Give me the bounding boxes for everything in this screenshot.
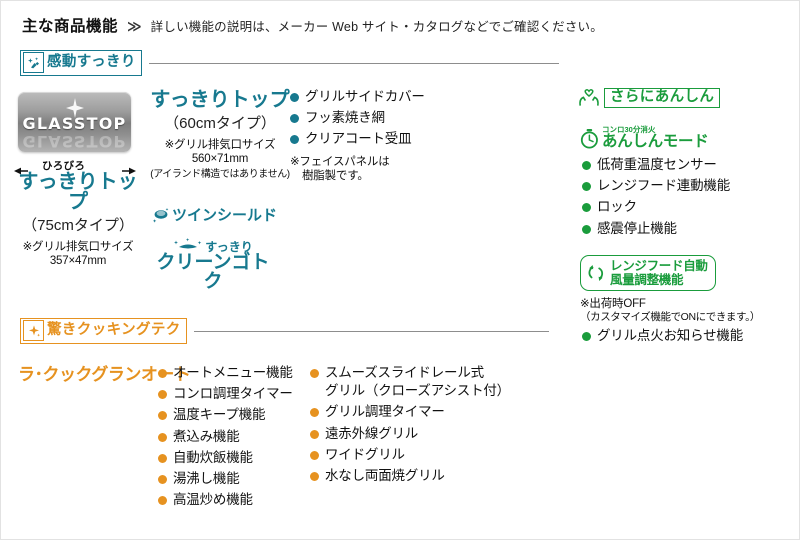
list-item-label: グリルサイドカバー <box>305 88 425 106</box>
bullet-dot-icon <box>582 225 591 234</box>
list-item-label: スムーズスライドレール式 <box>325 365 484 380</box>
bullet-dot-icon <box>158 433 167 442</box>
clean-bullet-note-1: ※フェイスパネルは <box>290 155 480 169</box>
title-arrow-icon: ≫ <box>127 18 142 35</box>
logo-clean-gotoku: すっきり クリーンゴトク <box>148 238 278 291</box>
list-item-label: オートメニュー機能 <box>173 364 293 382</box>
bullet-list-cooking-col1: オートメニュー機能 コンロ調理タイマー 温度キープ機能 煮込み機能 自動炊飯機能… <box>158 364 308 513</box>
section-rule-clean <box>149 63 559 64</box>
list-item: スムーズスライドレール式 グリル（クローズアシスト付） <box>310 364 520 400</box>
surprise-icon <box>23 320 44 341</box>
list-item-label: ワイドグリル <box>325 446 405 464</box>
list-item-label: 遠赤外線グリル <box>325 425 418 443</box>
list-item-label: フッ素焼き網 <box>305 109 385 127</box>
sparkle-hand-icon <box>23 52 44 73</box>
range-hood-feature-box: レンジフード自動 風量調整機能 <box>580 255 716 291</box>
page-subtitle: 詳しい機能の説明は、メーカー Web サイト・カタログなどでご確認ください。 <box>151 16 603 35</box>
section-header-clean: 感動すっきり <box>20 50 559 76</box>
list-item-label: 煮込み機能 <box>173 428 240 446</box>
section-badge-safety: さらにあんしん <box>578 88 720 108</box>
list-item: フッ素焼き網 <box>290 109 480 127</box>
clean-bullet-note-2: 樹脂製です。 <box>290 169 480 183</box>
list-item: 自動炊飯機能 <box>158 449 308 467</box>
product-60-note-2: 560×71mm <box>145 152 295 166</box>
list-item-label: 水なし両面焼グリル <box>325 467 445 485</box>
bullet-dot-icon <box>582 203 591 212</box>
page-title: 主な商品機能 <box>22 14 118 36</box>
safety-notes: ※出荷時OFF （カスタマイズ機能でONにできます。） <box>580 297 760 324</box>
list-item-label-cont: グリル（クローズアシスト付） <box>325 382 510 400</box>
list-item: ワイドグリル <box>310 446 520 464</box>
bullet-dot-icon <box>158 369 167 378</box>
bullet-list-safety: 低荷重温度センサー レンジフード連動機能 ロック 感震停止機能 <box>582 156 782 241</box>
bullet-dot-icon <box>310 430 319 439</box>
bullet-dot-icon <box>290 93 299 102</box>
section-label-clean: 感動すっきり <box>47 55 136 71</box>
bullet-list-safety-after: グリル点火お知らせ機能 <box>582 327 782 348</box>
bullet-dot-icon <box>158 496 167 505</box>
feature-sheet-page: 主な商品機能 ≫ 詳しい機能の説明は、メーカー Web サイト・カタログなどでご… <box>0 0 800 540</box>
product-60-note-3: (アイランド構造ではありません) <box>145 169 295 181</box>
safety-note-2: （カスタマイズ機能でONにできます。） <box>580 311 760 324</box>
section-label-safety: さらにあんしん <box>604 88 720 108</box>
list-item-label: グリル点火お知らせ機能 <box>597 327 743 345</box>
product-60-block: すっきりトップ （60cmタイプ） ※グリル排気口サイズ 560×71mm (ア… <box>145 90 295 181</box>
list-item-label: 高温炒め機能 <box>173 491 253 509</box>
list-item: 感震停止機能 <box>582 220 782 238</box>
logo-twin-shield: ツインシールド <box>152 204 277 225</box>
list-item-label: 感震停止機能 <box>597 220 677 238</box>
bullet-dot-icon <box>158 411 167 420</box>
bullet-dot-icon <box>158 475 167 484</box>
bullet-dot-icon <box>310 408 319 417</box>
product-75-note-1: ※グリル排気口サイズ <box>16 240 140 254</box>
shield-sparkle-icon <box>152 207 170 223</box>
list-item-label: コンロ調理タイマー <box>173 385 293 403</box>
list-item: 温度キープ機能 <box>158 406 308 424</box>
list-item: 湯沸し機能 <box>158 470 308 488</box>
hands-heart-icon <box>578 88 600 108</box>
auto-cycle-icon <box>586 262 606 284</box>
list-item-label: レンジフード連動機能 <box>597 177 730 195</box>
list-item-label: 湯沸し機能 <box>173 470 240 488</box>
bullet-dot-icon <box>582 161 591 170</box>
list-item-label: 自動炊飯機能 <box>173 449 253 467</box>
bullet-dot-icon <box>310 451 319 460</box>
range-hood-line-1: レンジフード自動 <box>610 259 708 273</box>
list-item: ロック <box>582 198 782 216</box>
list-item: 高温炒め機能 <box>158 491 308 509</box>
glasstop-badge: GLASSTOP GLASSTOP <box>18 92 131 152</box>
product-75-type: （75cmタイプ） <box>16 214 140 235</box>
list-item: 遠赤外線グリル <box>310 425 520 443</box>
list-item: コンロ調理タイマー <box>158 385 308 403</box>
anshin-mode-logo: コンロ30分消火 あんしんモード <box>580 126 708 149</box>
product-60-note-1: ※グリル排気口サイズ <box>145 138 295 152</box>
list-item: レンジフード連動機能 <box>582 177 782 195</box>
list-item: グリルサイドカバー <box>290 88 480 106</box>
section-rule-cooking <box>194 331 549 332</box>
bullet-dot-icon <box>158 454 167 463</box>
list-item-label: グリル調理タイマー <box>325 403 445 421</box>
list-item: 煮込み機能 <box>158 428 308 446</box>
list-item: 低荷重温度センサー <box>582 156 782 174</box>
bullet-dot-icon <box>310 472 319 481</box>
range-hood-line-2: 風量調整機能 <box>610 273 708 287</box>
list-item: オートメニュー機能 <box>158 364 308 382</box>
list-item: グリル点火お知らせ機能 <box>582 327 782 345</box>
bullet-dot-icon <box>310 369 319 378</box>
logo-clean-gotoku-label: クリーンゴトク <box>148 253 278 291</box>
product-75-note-2: 357×47mm <box>16 254 140 268</box>
list-item: 水なし両面焼グリル <box>310 467 520 485</box>
glasstop-reflection: GLASSTOP <box>18 132 131 151</box>
page-title-row: 主な商品機能 ≫ 詳しい機能の説明は、メーカー Web サイト・カタログなどでご… <box>22 14 603 36</box>
section-badge-cooking: 驚きクッキングテク <box>20 318 187 344</box>
bullet-dot-icon <box>582 182 591 191</box>
section-badge-clean: 感動すっきり <box>20 50 142 76</box>
product-75-name: すっきりトップ <box>16 172 140 212</box>
list-item-label: ロック <box>597 198 637 216</box>
anshin-mode-label: あんしんモード <box>602 134 708 150</box>
logo-twin-shield-label: ツインシールド <box>172 204 277 225</box>
safety-note-1: ※出荷時OFF <box>580 297 760 311</box>
glasstop-label: GLASSTOP <box>18 114 131 133</box>
section-label-cooking: 驚きクッキングテク <box>47 323 181 339</box>
section-header-cooking: 驚きクッキングテク <box>20 318 549 344</box>
list-item: クリアコート受皿 <box>290 130 480 148</box>
timer-icon <box>580 128 599 149</box>
product-60-type: （60cmタイプ） <box>145 112 295 133</box>
list-item-label: 低荷重温度センサー <box>597 156 717 174</box>
bullet-list-clean: グリルサイドカバー フッ素焼き網 クリアコート受皿 ※フェイスパネルは 樹脂製で… <box>290 88 480 183</box>
product-75-block: すっきりトップ （75cmタイプ） ※グリル排気口サイズ 357×47mm <box>16 172 140 269</box>
section-header-safety: さらにあんしん <box>578 88 720 108</box>
bullet-dot-icon <box>158 390 167 399</box>
list-item-label: クリアコート受皿 <box>305 130 411 148</box>
list-item: グリル調理タイマー <box>310 403 520 421</box>
bullet-dot-icon <box>290 114 299 123</box>
bullet-dot-icon <box>290 135 299 144</box>
list-item-label: 温度キープ機能 <box>173 406 265 424</box>
bullet-dot-icon <box>582 332 591 341</box>
product-60-name: すっきりトップ <box>145 90 295 110</box>
bullet-list-cooking-col2: スムーズスライドレール式 グリル（クローズアシスト付） グリル調理タイマー 遠赤… <box>310 364 520 488</box>
